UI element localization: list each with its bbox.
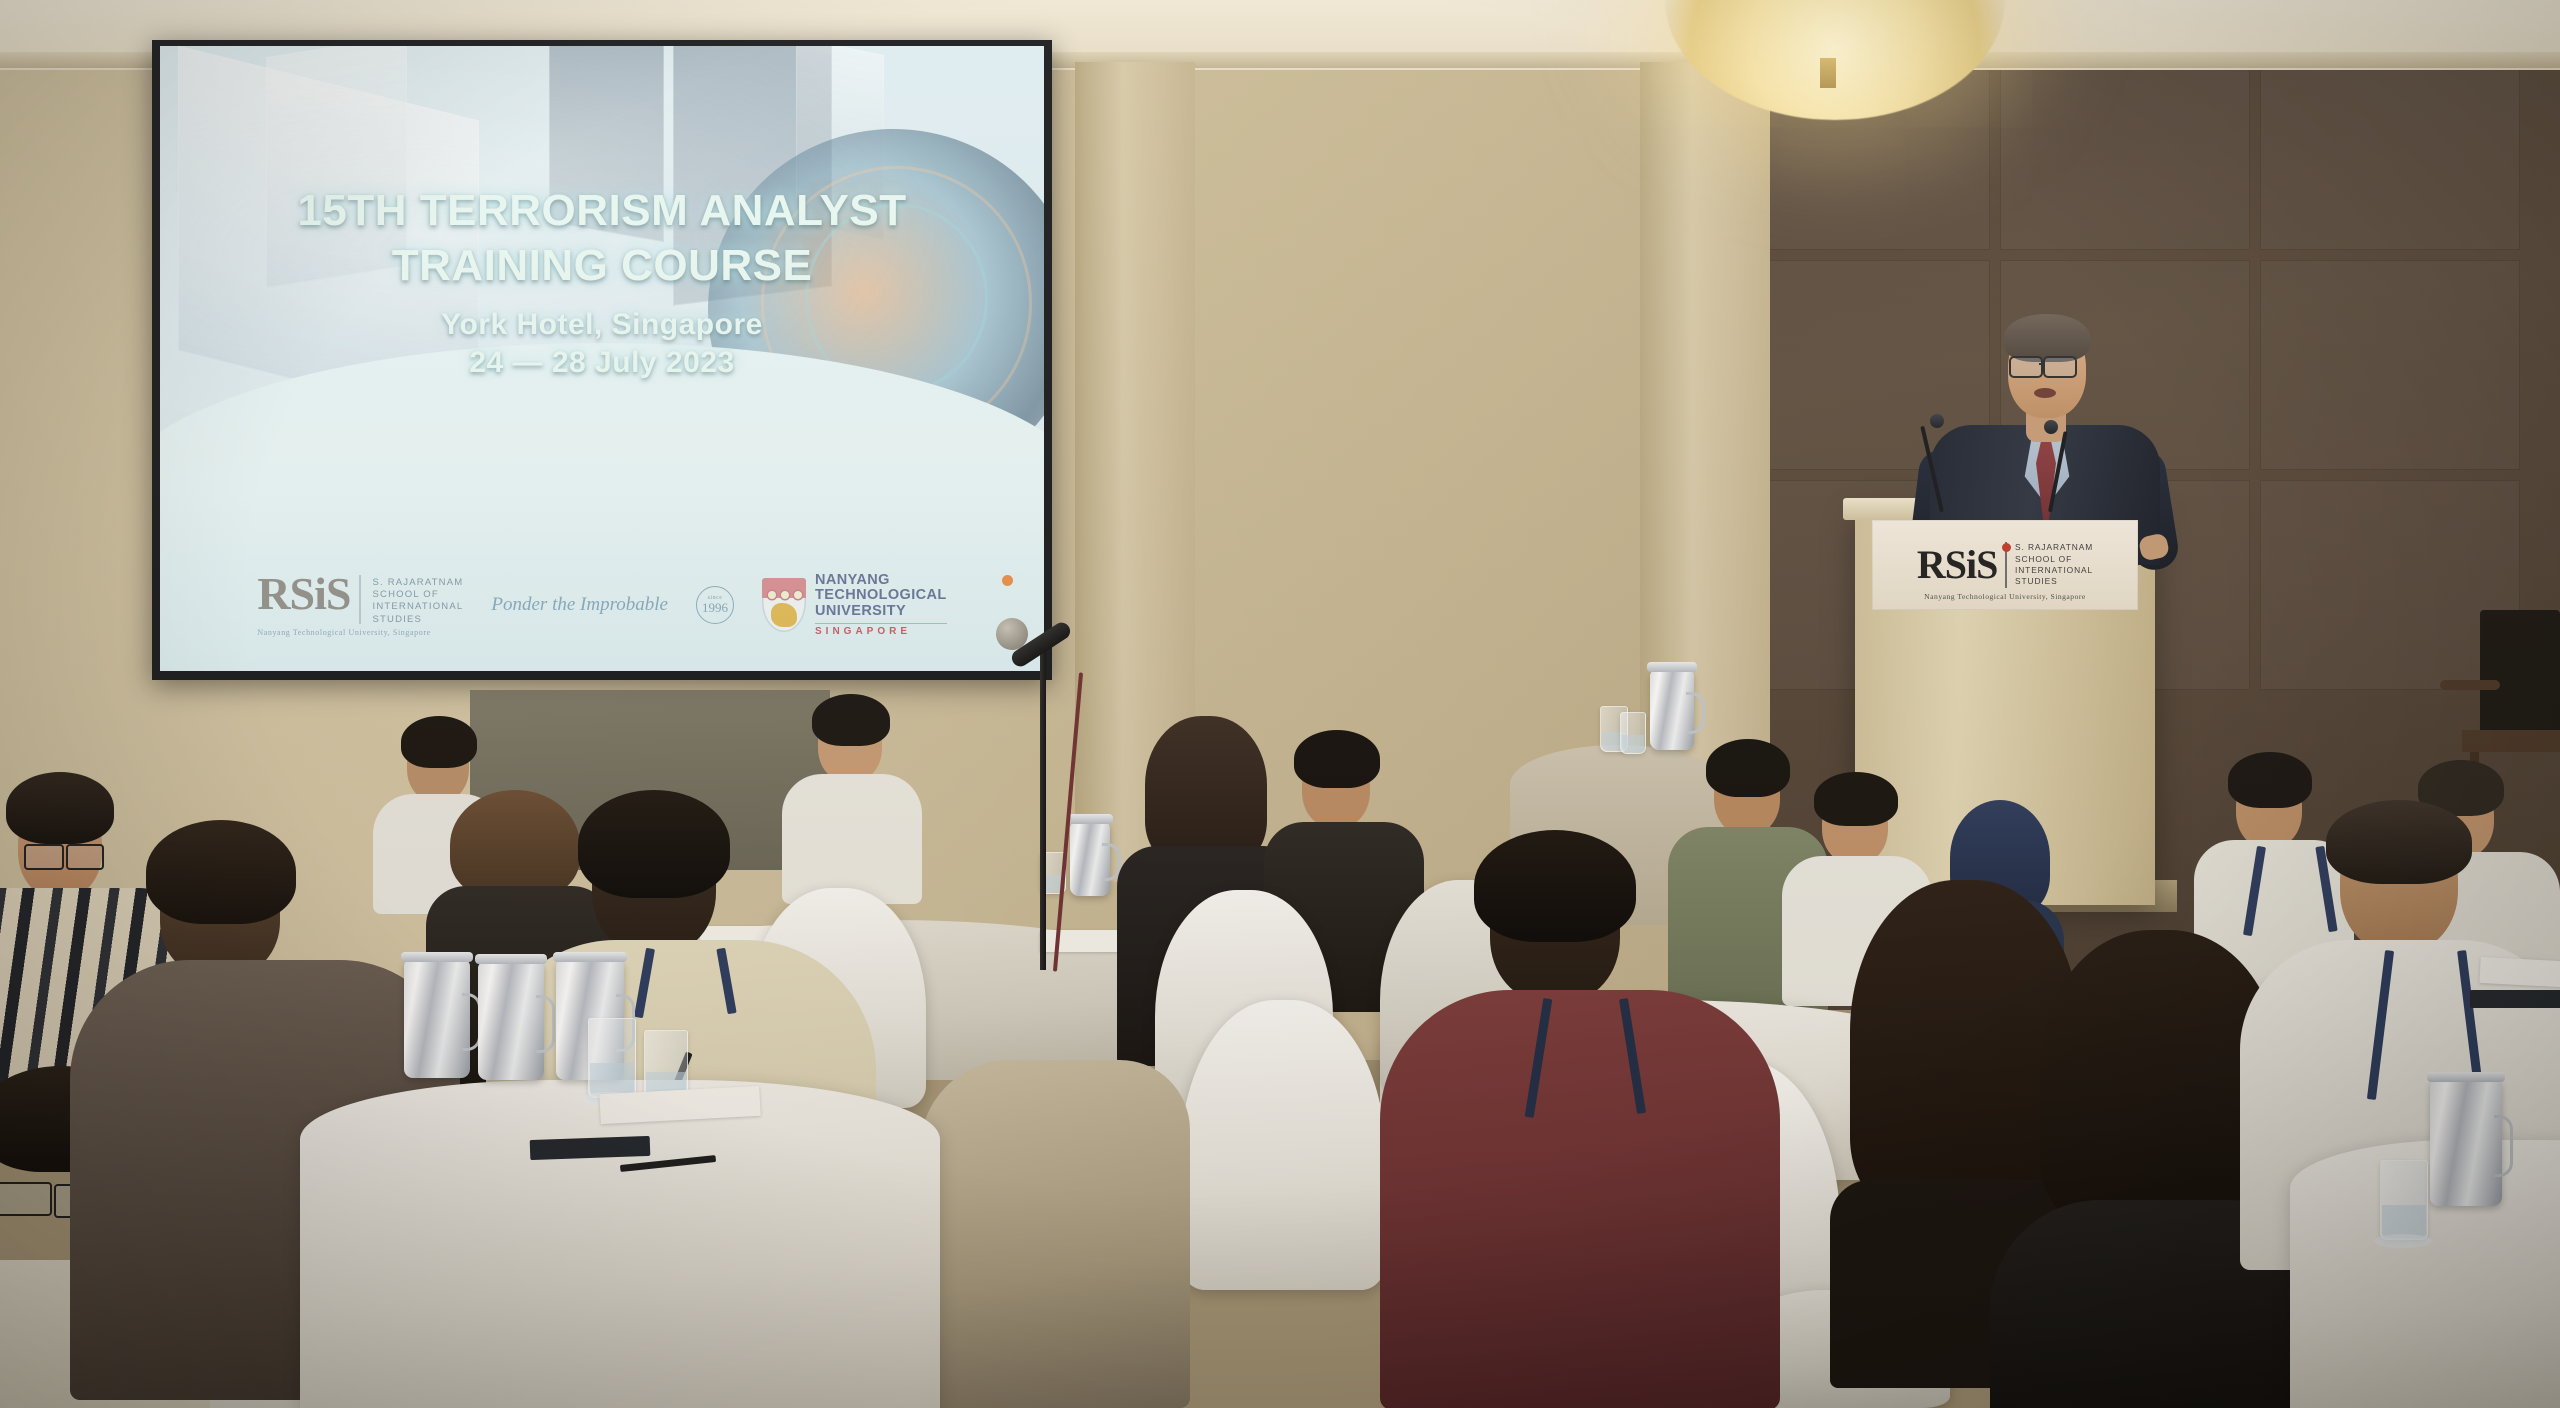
slide-dates: 24 — 28 July 2023	[160, 346, 1044, 380]
lectern-footer: Nanyang Technological University, Singap…	[1872, 592, 2138, 601]
microphone-stand	[1040, 640, 1046, 970]
slide-title-line-2: TRAINING COURSE	[160, 241, 1044, 291]
ntu-line-3: UNIVERSITY	[815, 604, 947, 620]
lectern-microphone-left-head	[1930, 414, 1944, 428]
side-armchair-back	[2480, 610, 2560, 740]
notebook-on-table	[530, 1136, 651, 1160]
speaker-glasses-icon	[2009, 356, 2043, 378]
ntu-logo: NANYANG TECHNOLOGICAL UNIVERSITY SINGAPO…	[762, 573, 947, 637]
rsis-orange-dot-icon	[1002, 575, 1013, 586]
speaker-glasses-right-lens	[2043, 356, 2077, 378]
side-armchair-seat	[2462, 730, 2560, 752]
ntu-line-1: NANYANG	[815, 573, 947, 589]
lectern-red-dot-icon	[2002, 543, 2011, 552]
since-1996-seal: since 1996	[696, 586, 734, 624]
rsis-divider	[359, 575, 361, 624]
seal-year: 1996	[702, 601, 728, 614]
rsis-logo: RSiS S. RAJARATNAM SCHOOL OF INTERNATION…	[257, 573, 463, 637]
side-armchair-armrest	[2440, 680, 2500, 690]
speaker-mouth	[2034, 388, 2056, 398]
slide-logo-row: RSiS S. RAJARATNAM SCHOOL OF INTERNATION…	[160, 573, 1044, 637]
notebook-on-table	[2470, 990, 2560, 1008]
lectern-descriptor-line-2: SCHOOL OF	[2015, 554, 2093, 565]
rsis-descriptor-line-2: SCHOOL OF	[372, 589, 463, 601]
lectern-descriptor: S. RAJARATNAM SCHOOL OF INTERNATIONAL ST…	[2015, 542, 2093, 587]
water-pitcher	[404, 960, 470, 1078]
jacket-on-chair	[920, 1060, 1190, 1408]
projection-screen: 15TH TERRORISM ANALYST TRAINING COURSE Y…	[160, 46, 1044, 671]
ntu-crest-icon	[762, 578, 806, 632]
rsis-wordmark: RSiS	[257, 573, 350, 615]
water-pitcher	[1650, 670, 1694, 750]
water-pitcher	[1070, 822, 1110, 896]
water-pitcher	[478, 962, 544, 1080]
slide-title-line-1: 15TH TERRORISM ANALYST	[160, 186, 1044, 236]
banquet-table-foreground	[300, 1080, 940, 1408]
lectern-microphone-right-head	[2044, 420, 2058, 434]
slide-venue: York Hotel, Singapore	[160, 308, 1044, 342]
lectern-descriptor-line-4: STUDIES	[2015, 576, 2093, 587]
rsis-descriptor-line-4: STUDIES	[372, 614, 463, 626]
banquet-chair	[1180, 1000, 1386, 1290]
chandelier-stem	[1820, 58, 1836, 88]
water-glass	[2380, 1160, 2428, 1240]
lectern-rsis-wordmark: RSiS	[1917, 547, 1998, 583]
ntu-line-2: TECHNOLOGICAL	[815, 588, 947, 604]
lectern-descriptor-line-3: INTERNATIONAL	[2015, 565, 2093, 576]
rsis-descriptor: S. RAJARATNAM SCHOOL OF INTERNATIONAL ST…	[372, 573, 463, 626]
speaker-hair	[2004, 314, 2090, 362]
water-glass	[1620, 712, 1646, 754]
rsis-descriptor-line-1: S. RAJARATNAM	[372, 577, 463, 589]
rsis-tagline: Ponder the Improbable	[491, 594, 668, 616]
rsis-footer: Nanyang Technological University, Singap…	[257, 628, 463, 637]
conference-photo: 15TH TERRORISM ANALYST TRAINING COURSE Y…	[0, 0, 2560, 1408]
lectern-branding-panel: RSiS S. RAJARATNAM SCHOOL OF INTERNATION…	[1872, 520, 2138, 610]
glass-foot	[2374, 1234, 2432, 1248]
lectern-descriptor-line-1: S. RAJARATNAM	[2015, 542, 2093, 553]
presentation-slide: 15TH TERRORISM ANALYST TRAINING COURSE Y…	[160, 46, 1044, 671]
water-pitcher	[2430, 1080, 2502, 1206]
microphone-head-icon	[996, 618, 1028, 650]
water-glass	[588, 1018, 636, 1098]
speaker-glasses-bridge	[2039, 363, 2045, 365]
rsis-descriptor-line-3: INTERNATIONAL	[372, 601, 463, 613]
ntu-country: SINGAPORE	[815, 623, 947, 637]
